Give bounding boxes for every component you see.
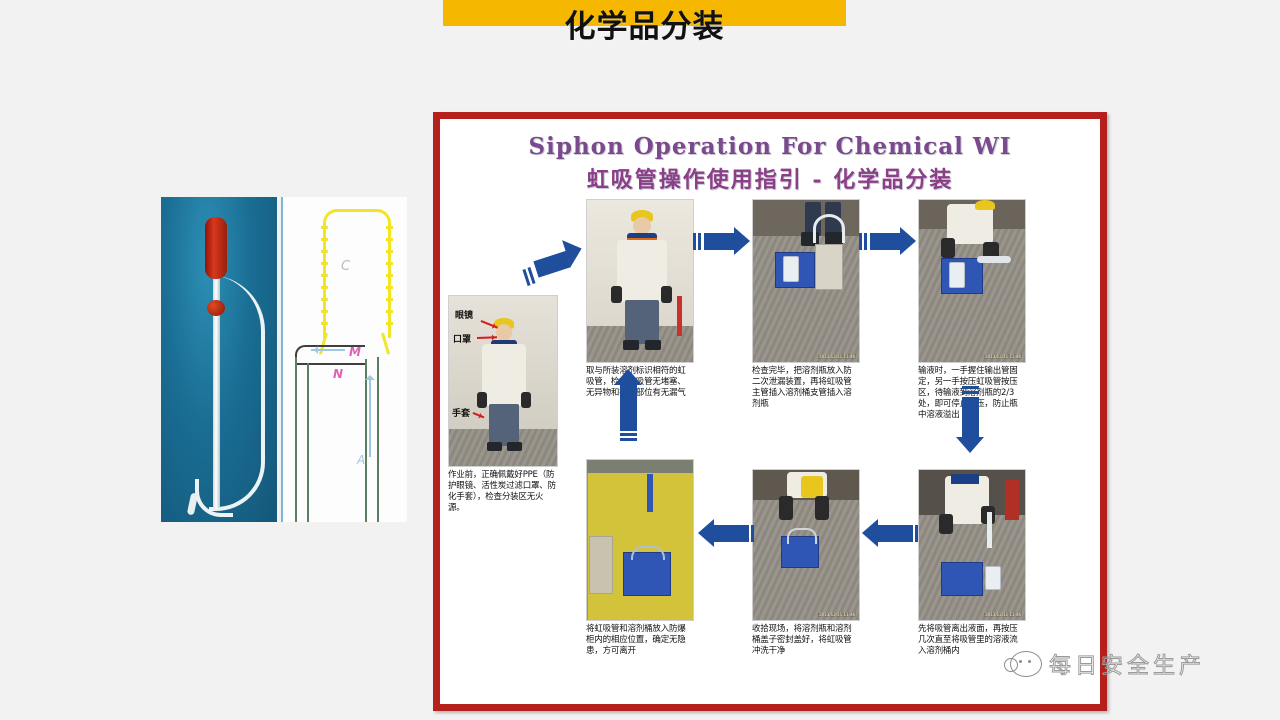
siphon-stem-shape (213, 259, 220, 509)
watermark-text: 每日安全生产 (1049, 648, 1205, 680)
wechat-bubble-tail (1004, 658, 1018, 672)
step-1-tile: 眼镜 口罩 手套 作业前，正确佩戴好PPE（防护眼镜、活性炭过滤口罩、防化手套）… (448, 295, 556, 514)
worker-glove-right (815, 496, 829, 520)
step-6-photo: 2013/12/11 11:46 (752, 469, 860, 621)
worker-glove-left (939, 514, 953, 534)
step-6-tile: 2013/12/11 11:46 收拾现场，将溶剂瓶和溶剂桶盖子密封盖好，将虹吸… (752, 469, 858, 657)
worker-glove-left (941, 238, 955, 258)
step-2-photo (586, 199, 694, 363)
siphon-collar-shape (207, 300, 225, 316)
bellows-ridge (321, 286, 328, 289)
secondary-containment-tray (941, 562, 983, 596)
yellow-apron-shape (801, 476, 823, 498)
worker-boot-left (623, 340, 639, 350)
solvent-drum-shape (815, 244, 843, 290)
solvent-drum-shape (589, 536, 613, 594)
worker-collar-shape (951, 474, 979, 484)
poster-title: Siphon Operation For Chemical WI 虹吸管操作使用… (440, 133, 1100, 194)
step-3-tile: 2013/12/11 11:46 检查完毕，把溶剂瓶放入防二次泄漏装置，再将虹吸… (752, 199, 858, 410)
bellows-ridge (321, 274, 328, 277)
bellows-ridge (386, 238, 393, 241)
step-5-photo: 2013/12/11 11:46 (918, 469, 1026, 621)
worker-boot-left (487, 442, 502, 451)
schematic-flow-arrow-left (311, 349, 345, 351)
step-3-timestamp: 2013/12/11 11:46 (818, 354, 856, 359)
step-1-photo: 眼镜 口罩 手套 (448, 295, 558, 467)
helmet-shape (975, 200, 995, 210)
schematic-label-n: N (333, 367, 343, 381)
step-7-caption: 将虹吸管和溶剂桶放入防爆柜内的相应位置，确定无隐患，方可离开 (586, 624, 692, 657)
siphon-schematic-diagram: C M N A (281, 197, 407, 522)
step-7-photo (586, 459, 694, 621)
worker-trousers-shape (625, 300, 659, 344)
bellows-ridge (386, 262, 393, 265)
worker-glove-right (661, 286, 672, 303)
bellows-ridge (321, 310, 328, 313)
wi-poster-body: Siphon Operation For Chemical WI 虹吸管操作使用… (440, 119, 1100, 704)
solvent-bottle-shape (783, 256, 799, 282)
step-5-caption: 先将吸管离出液面，再按压几次直至将吸管里的溶液流入溶剂桶内 (918, 624, 1024, 657)
bellows-neck-left (319, 333, 328, 355)
schematic-neck-top2 (295, 363, 365, 365)
worker-boot-right (507, 442, 522, 451)
bellows-ridge (321, 250, 328, 253)
step-4-photo: 2013/12/11 11:46 (918, 199, 1026, 363)
step-3-caption: 检查完毕，把溶剂瓶放入防二次泄漏装置，再将虹吸管主管插入溶剂桶支管插入溶剂瓶 (752, 366, 858, 410)
worker-glove-left (477, 392, 487, 408)
worker-trousers-shape (489, 404, 519, 446)
siphon-pump-photo (161, 197, 277, 522)
schematic-label-c: C (341, 259, 350, 274)
step-7-tile: 将虹吸管和溶剂桶放入防爆柜内的相应位置，确定无隐患，方可离开 (586, 459, 692, 657)
bellows-ridge (386, 250, 393, 253)
solvent-bottle-shape (985, 566, 1001, 590)
bellows-ridge (386, 322, 393, 325)
ppe-label-mask: 口罩 (453, 332, 471, 345)
bellows-ridge (321, 322, 328, 325)
siphon-tube-shape (987, 512, 992, 548)
bellows-shape (323, 209, 391, 338)
cabinet-top-shadow (587, 460, 693, 473)
step-6-caption: 收拾现场，将溶剂瓶和溶剂桶盖子密封盖好，将虹吸管冲洗干净 (752, 624, 858, 657)
schematic-flow-arrow-up (369, 377, 371, 457)
red-equipment-shape (1005, 480, 1019, 520)
bellows-ridge (386, 274, 393, 277)
cabinet-handle-shape (647, 474, 653, 512)
step-1-caption: 作业前，正确佩戴好PPE（防护眼镜、活性炭过滤口罩、防化手套），检查分装区无火源… (448, 470, 556, 514)
wi-poster-frame: Siphon Operation For Chemical WI 虹吸管操作使用… (433, 112, 1107, 711)
worker-glove-left (779, 496, 793, 520)
siphon-tip-shape (187, 493, 198, 516)
bellows-ridge (321, 262, 328, 265)
worker-glove-right (521, 392, 531, 408)
outlet-tube-shape (977, 256, 1011, 263)
schematic-body-right2 (377, 357, 379, 522)
schematic-body-inner (307, 363, 309, 522)
step-3-photo: 2013/12/11 11:46 (752, 199, 860, 363)
step-5-timestamp: 2013/12/11 11:46 (984, 612, 1022, 617)
page-title: 化学品分装 (443, 0, 846, 48)
red-handle-shape (677, 296, 682, 336)
schematic-label-m: M (349, 345, 361, 359)
ppe-label-gloves: 手套 (452, 406, 470, 419)
bellows-ridge (321, 298, 328, 301)
worker-coat-shape (617, 240, 667, 302)
ppe-label-goggles: 眼镜 (455, 308, 473, 321)
siphon-bulb-shape (205, 217, 227, 279)
schematic-rule (281, 197, 283, 522)
worker-boot-right (645, 340, 661, 350)
bellows-ridge (386, 286, 393, 289)
bellows-ridge (321, 226, 328, 229)
bellows-ridge (321, 238, 328, 241)
watermark: 每日安全生产 (1010, 648, 1205, 680)
solvent-bottle-shape (949, 262, 965, 288)
bellows-ridge (386, 310, 393, 313)
bellows-ridge (386, 226, 393, 229)
schematic-label-a: A (357, 453, 365, 467)
worker-glove-left (611, 286, 622, 303)
step-5-tile: 2013/12/11 11:46 先将吸管离出液面，再按压几次直至将吸管里的溶液… (918, 469, 1024, 657)
step-4-timestamp: 2013/12/11 11:46 (984, 354, 1022, 359)
worker-coat-shape (482, 344, 526, 406)
siphon-tube-shape (631, 546, 665, 560)
wechat-bubble-icon (1010, 651, 1042, 677)
siphon-tube-shape (787, 528, 817, 544)
poster-title-en: Siphon Operation For Chemical WI (440, 133, 1100, 160)
step-6-timestamp: 2013/12/11 11:46 (818, 612, 856, 617)
schematic-body-outer (295, 357, 297, 522)
siphon-tube-shape (813, 214, 845, 243)
schematic-body-right (365, 359, 367, 522)
poster-title-cn: 虹吸管操作使用指引 - 化学品分装 (440, 162, 1100, 194)
bellows-ridge (386, 298, 393, 301)
